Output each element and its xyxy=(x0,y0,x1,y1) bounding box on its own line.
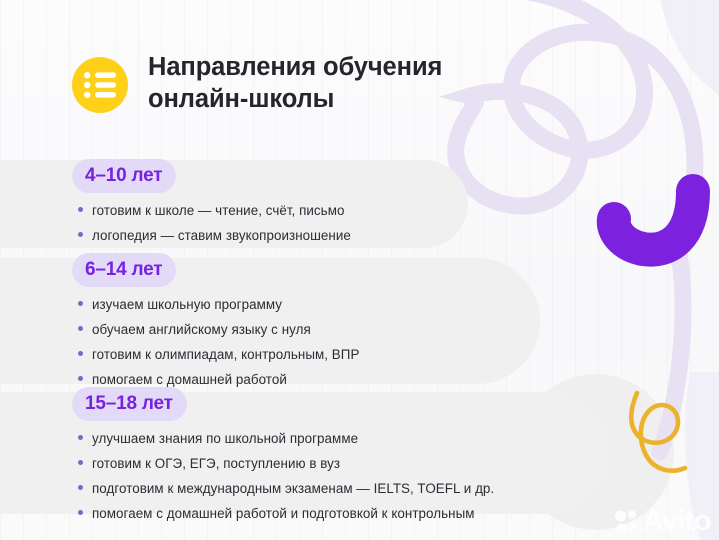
list-item: логопедия — ставим звукопроизношение xyxy=(72,227,351,245)
age-badge-0: 4–10 лет xyxy=(72,159,176,193)
age-group-0: 4–10 лет готовим к школе — чтение, счёт,… xyxy=(72,159,351,245)
list-item: улучшаем знания по школьной программе xyxy=(72,430,494,448)
age-group-list-0: готовим к школе — чтение, счёт, письмо л… xyxy=(72,202,351,245)
list-item: готовим к ОГЭ, ЕГЭ, поступлению в вуз xyxy=(72,455,494,473)
age-group-list-1: изучаем школьную программу обучаем англи… xyxy=(72,296,359,389)
age-badge-1: 6–14 лет xyxy=(72,253,176,287)
bullet-dot-icon xyxy=(78,485,83,490)
lavender-corner-wash xyxy=(660,0,719,95)
list-item-label: улучшаем знания по школьной программе xyxy=(92,430,358,448)
age-group-list-2: улучшаем знания по школьной программе го… xyxy=(72,430,494,523)
bullet-list-icon xyxy=(72,57,128,113)
age-group-1: 6–14 лет изучаем школьную программу обуч… xyxy=(72,253,359,389)
list-item: готовим к школе — чтение, счёт, письмо xyxy=(72,202,351,220)
avito-watermark: Avito xyxy=(614,507,711,536)
list-item-label: готовим к ОГЭ, ЕГЭ, поступлению в вуз xyxy=(92,455,340,473)
bullet-dot-icon xyxy=(78,232,83,237)
bullet-dot-icon xyxy=(78,460,83,465)
age-group-2: 15–18 лет улучшаем знания по школьной пр… xyxy=(72,387,494,523)
avito-dots-icon xyxy=(614,509,640,535)
list-item-label: готовим к школе — чтение, счёт, письмо xyxy=(92,202,344,220)
avito-watermark-label: Avito xyxy=(643,507,711,536)
list-item: помогаем с домашней работой и подготовко… xyxy=(72,505,494,523)
bullet-list-glyph xyxy=(84,72,116,98)
bullet-dot-icon xyxy=(78,326,83,331)
list-item: обучаем английскому языку с нуля xyxy=(72,321,359,339)
list-item-label: изучаем школьную программу xyxy=(92,296,282,314)
lavender-swirl-loop xyxy=(456,0,695,452)
purple-hook-shape xyxy=(614,191,693,250)
list-item-label: помогаем с домашней работой и подготовко… xyxy=(92,505,475,523)
bullet-dot-icon xyxy=(78,351,83,356)
age-badge-2: 15–18 лет xyxy=(72,387,187,421)
bullet-dot-icon xyxy=(78,301,83,306)
yellow-cursive-e-squiggle xyxy=(631,393,685,471)
poster-canvas: Направления обучения онлайн-школы 4–10 л… xyxy=(0,0,719,540)
header: Направления обучения онлайн-школы xyxy=(72,52,442,115)
page-title: Направления обучения онлайн-школы xyxy=(148,52,442,115)
bullet-dot-icon xyxy=(78,510,83,515)
bullet-dot-icon xyxy=(78,376,83,381)
list-item-label: логопедия — ставим звукопроизношение xyxy=(92,227,351,245)
list-item-label: обучаем английскому языку с нуля xyxy=(92,321,311,339)
list-item-label: подготовим к международным экзаменам — I… xyxy=(92,480,494,498)
bullet-dot-icon xyxy=(78,435,83,440)
list-item: изучаем школьную программу xyxy=(72,296,359,314)
list-item: подготовим к международным экзаменам — I… xyxy=(72,480,494,498)
list-item: готовим к олимпиадам, контрольным, ВПР xyxy=(72,346,359,364)
bullet-dot-icon xyxy=(78,207,83,212)
list-item-label: готовим к олимпиадам, контрольным, ВПР xyxy=(92,346,359,364)
